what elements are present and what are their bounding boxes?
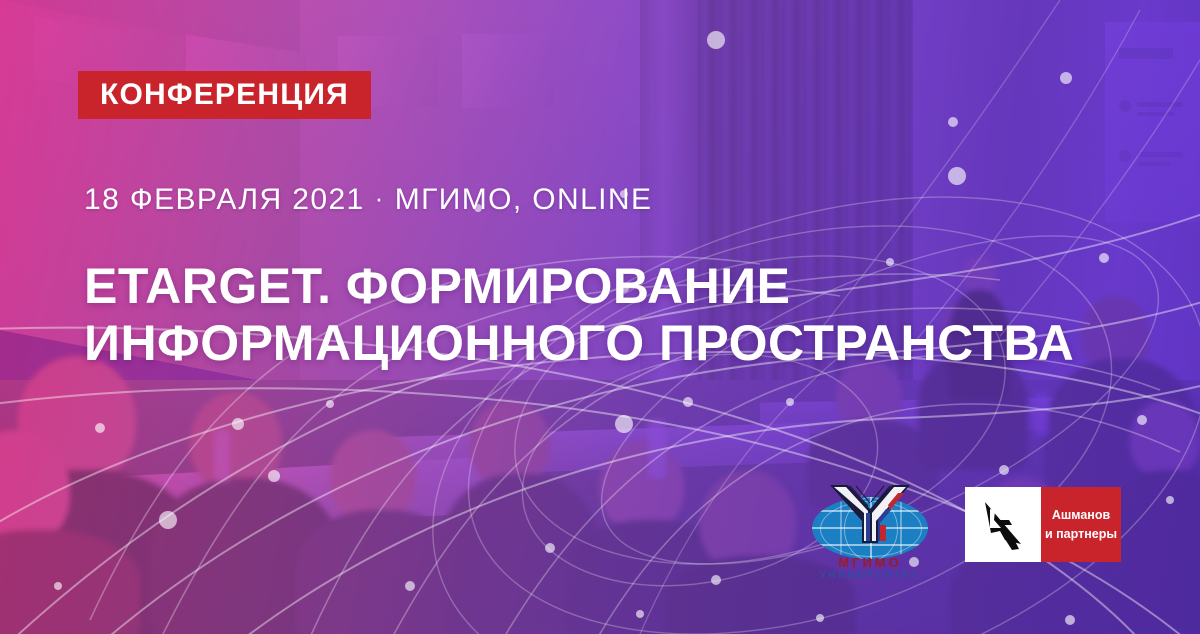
event-dateline: 18 ФЕВРАЛЯ 2021·МГИМО, ONLINE [84, 183, 652, 217]
mgimo-subtitle: УНИВЕРСИТЕТ [800, 570, 940, 580]
mgimo-name: МГИМО [800, 555, 940, 570]
event-date: 18 ФЕВРАЛЯ 2021 [84, 183, 365, 216]
ashmanov-logo: Ашманов и партнеры [965, 487, 1121, 562]
page-title: ETARGET. ФОРМИРОВАНИЕ ИНФОРМАЦИОННОГО ПР… [84, 258, 1074, 372]
title-line-1: ETARGET. ФОРМИРОВАНИЕ [84, 258, 1074, 315]
arrow-a-cursor-icon [981, 500, 1025, 550]
ashmanov-line-2: и партнеры [1045, 525, 1117, 543]
mgimo-logo: МГИМО УНИВЕРСИТЕТ [800, 477, 940, 582]
event-venue: МГИМО, ONLINE [395, 183, 653, 216]
conference-banner: КОНФЕРЕНЦИЯ 18 ФЕВРАЛЯ 2021·МГИМО, ONLIN… [0, 0, 1200, 634]
ashmanov-mark [965, 487, 1041, 562]
ashmanov-wordmark: Ашманов и партнеры [1041, 487, 1121, 562]
title-line-2: ИНФОРМАЦИОННОГО ПРОСТРАНСТВА [84, 315, 1074, 372]
dateline-separator: · [365, 183, 395, 214]
conference-badge: КОНФЕРЕНЦИЯ [78, 71, 371, 119]
mgimo-emblem-icon [828, 483, 912, 545]
ashmanov-line-1: Ашманов [1052, 506, 1110, 524]
